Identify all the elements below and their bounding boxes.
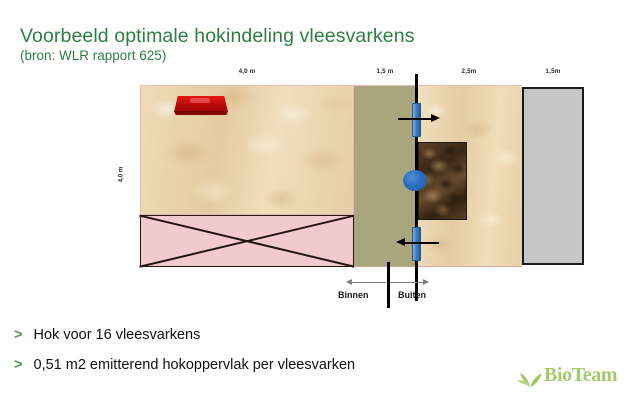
pen-layout-diagram: 4,0 m 1,5 m 2,5m 1,5m 4,0 m — [112, 68, 560, 308]
arrow-head — [396, 238, 405, 246]
feeder-trough-lip — [174, 111, 228, 115]
label-outside: Buiten — [398, 290, 426, 300]
arrow-head — [431, 114, 440, 122]
bullet-marker: > — [14, 357, 22, 373]
zone-indoor-solid-floor — [140, 85, 354, 215]
bullet-text: 0,51 m2 emitterend hokoppervlak per vlee… — [34, 357, 356, 373]
arrow-right-icon — [390, 279, 430, 286]
arrow-shaft — [352, 282, 386, 283]
dimension-label-grey-slab: 1,5m — [522, 68, 584, 75]
dimension-label-outdoor-run: 2,5m — [416, 68, 522, 75]
arrow-shaft — [405, 242, 439, 244]
zone-grey-slab — [522, 87, 584, 265]
dimension-label-indoor-pen: 4,0 m — [140, 68, 354, 75]
page-subtitle: (bron: WLR rapport 625) — [20, 48, 166, 63]
arrow-head — [423, 279, 429, 285]
arrow-left-icon — [396, 238, 440, 248]
arrow-head — [346, 279, 352, 285]
bullet-item: > 0,51 m2 emitterend hokoppervlak per vl… — [14, 357, 355, 373]
arrow-left-icon — [346, 279, 386, 286]
dimension-label-transition-strip: 1,5 m — [354, 68, 416, 75]
label-inside: Binnen — [338, 290, 369, 300]
logo-text: BioTeam — [544, 364, 617, 387]
bullet-marker: > — [14, 327, 22, 343]
feeder-trough-sheen — [190, 98, 210, 103]
pen-plan-view — [140, 85, 560, 267]
inside-outside-indicator: Binnen Buiten — [328, 276, 456, 308]
zone-slatted-floor — [140, 215, 354, 267]
arrow-shaft — [398, 118, 432, 120]
arrow-right-icon — [398, 114, 440, 124]
page-title: Voorbeeld optimale hokindeling vleesvark… — [20, 25, 415, 48]
leaf-icon — [516, 367, 544, 388]
bioteam-logo: BioTeam — [516, 364, 620, 394]
bullet-text: Hok voor 16 vleesvarkens — [34, 327, 201, 343]
feeder-trough — [174, 96, 228, 117]
bullet-item: > Hok voor 16 vleesvarkens — [14, 327, 200, 343]
dimension-label-pen-depth: 4,0 m — [118, 160, 125, 190]
arrow-shaft — [390, 282, 424, 283]
drinker — [403, 170, 427, 191]
